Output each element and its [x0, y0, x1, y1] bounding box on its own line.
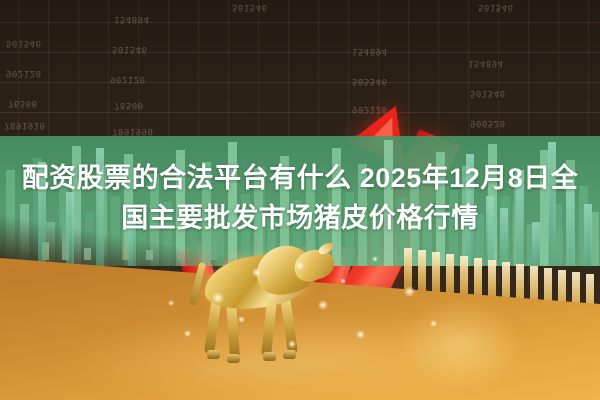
financial-news-banner: 5015469021207650078919101548945015469021… [0, 0, 600, 400]
bull-leg-front-left [261, 300, 277, 357]
bull-hoof-4 [283, 350, 296, 359]
bull-tail [189, 262, 206, 306]
gold-bar-1 [418, 250, 426, 294]
bull-hoof-2 [227, 354, 240, 363]
bull-leg-front-right [280, 296, 298, 355]
headline-line-2: 国主要批发市场猪皮价格行情 [0, 198, 600, 238]
gold-bar-2 [432, 252, 440, 296]
golden-bull-statue [186, 244, 336, 364]
gold-bar-3 [446, 254, 454, 298]
bull-hoof-3 [263, 352, 276, 361]
bull-hoof-1 [207, 350, 220, 359]
floor-glow [400, 300, 520, 390]
headline-line-1: 配资股票的合法平台有什么 2025年12月8日全 [0, 158, 600, 198]
headline: 配资股票的合法平台有什么 2025年12月8日全 国主要批发市场猪皮价格行情 [0, 158, 600, 238]
gold-bar-0 [404, 248, 412, 290]
